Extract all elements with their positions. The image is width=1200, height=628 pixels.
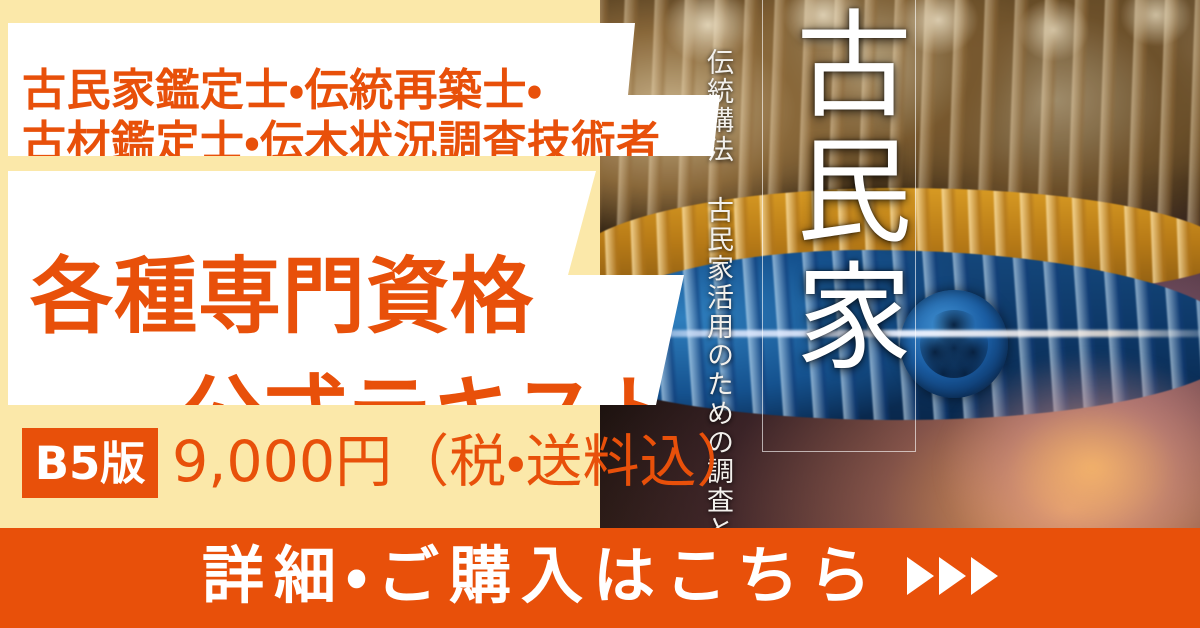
arrow-right-icon-2: [939, 557, 966, 595]
heading-line-1: 古民家鑑定士・伝統再築士・: [22, 69, 542, 113]
book-cover-title: 古民家: [770, 4, 910, 444]
warm-glow: [900, 300, 1200, 530]
arrow-right-icon-1: [907, 557, 934, 595]
arrow-right-icon-3: [971, 557, 998, 595]
cta-label: 詳細・ご購入はこちら: [202, 545, 881, 607]
cta-inner: 詳細・ご購入はこちら: [202, 545, 998, 607]
title-line-1: 各種専門資格: [30, 255, 534, 338]
size-badge: B5版: [22, 428, 158, 498]
triple-arrow-right-icon: [907, 557, 998, 595]
price-text: 9,000円（税・送料込）: [172, 433, 754, 493]
cta-button-bar[interactable]: 詳細・ご購入はこちら: [0, 528, 1200, 628]
heading-panel: 古民家鑑定士・伝統再築士・ 古材鑑定士・伝木状況調査技術者: [8, 23, 732, 156]
price-row: B5版 9,000円（税・送料込）: [0, 424, 700, 502]
promo-banner: 古民家 伝統構法 古民家活用のための調査と再生の 古民家鑑定士・伝統再築士・ 古…: [0, 0, 1200, 628]
